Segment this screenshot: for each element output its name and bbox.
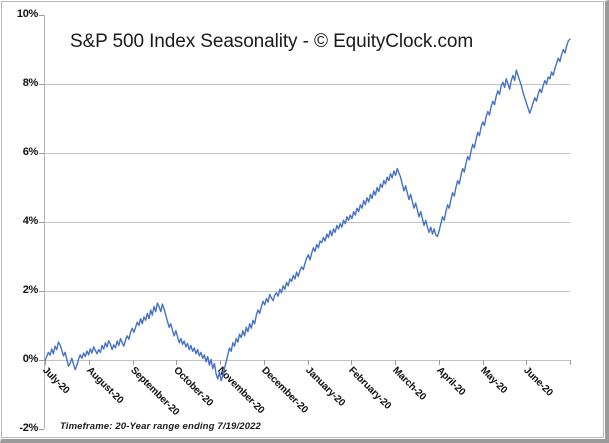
y-tick [39, 15, 44, 16]
y-tick-label: 0% [2, 353, 38, 365]
chart-title: S&P 500 Index Seasonality - © EquityCloc… [70, 31, 473, 53]
y-tick [39, 222, 44, 223]
series-line-svg [45, 15, 570, 429]
y-tick [39, 360, 44, 361]
y-tick [39, 84, 44, 85]
chart-canvas: 10%8%6%4%2%0%-2% July-20August-20Septemb… [1, 1, 604, 438]
x-tick [570, 360, 571, 365]
y-tick-label: -2% [2, 422, 38, 434]
y-tick-label: 2% [2, 284, 38, 296]
y-tick-label: 8% [2, 77, 38, 89]
plot-area [45, 15, 570, 429]
chart-frame: 10%8%6%4%2%0%-2% July-20August-20Septemb… [0, 0, 609, 443]
y-tick-label: 4% [2, 215, 38, 227]
y-tick-label: 10% [2, 8, 38, 20]
y-tick [39, 429, 44, 430]
y-tick [39, 291, 44, 292]
chart-footnote: Timeframe: 20-Year range ending 7/19/202… [60, 421, 261, 432]
series-line [45, 39, 570, 381]
y-tick [39, 153, 44, 154]
y-tick-label: 6% [2, 146, 38, 158]
